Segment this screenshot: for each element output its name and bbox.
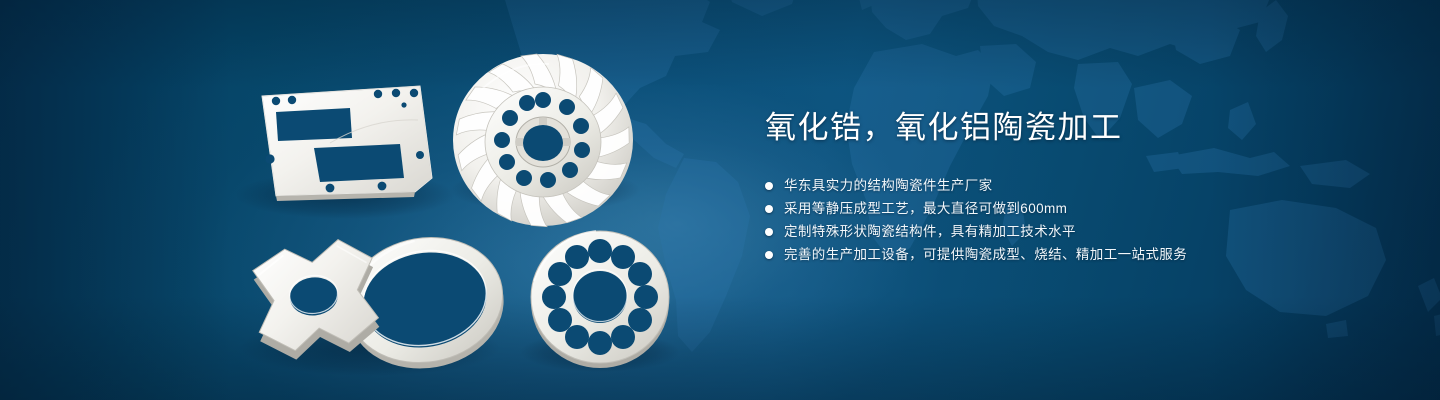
list-item: 完善的生产加工设备，可提供陶瓷成型、烧结、精加工一站式服务	[765, 243, 1385, 266]
bullet-dot-icon	[765, 182, 773, 190]
bullet-dot-icon	[765, 251, 773, 259]
list-item: 定制特殊形状陶瓷结构件，具有精加工技术水平	[765, 220, 1385, 243]
feature-text: 华东具实力的结构陶瓷件生产厂家	[784, 174, 993, 197]
feature-list: 华东具实力的结构陶瓷件生产厂家 采用等静压成型工艺，最大直径可做到600mm 定…	[765, 174, 1385, 266]
bullet-dot-icon	[765, 205, 773, 213]
list-item: 采用等静压成型工艺，最大直径可做到600mm	[765, 197, 1385, 220]
banner-headline: 氧化锆，氧化铝陶瓷加工	[765, 108, 1385, 148]
feature-text: 完善的生产加工设备，可提供陶瓷成型、烧结、精加工一站式服务	[784, 243, 1187, 266]
hero-banner: 氧化锆，氧化铝陶瓷加工 华东具实力的结构陶瓷件生产厂家 采用等静压成型工艺，最大…	[0, 0, 1440, 400]
banner-copy: 氧化锆，氧化铝陶瓷加工 华东具实力的结构陶瓷件生产厂家 采用等静压成型工艺，最大…	[765, 108, 1385, 266]
feature-text: 定制特殊形状陶瓷结构件，具有精加工技术水平	[784, 220, 1076, 243]
feature-text: 采用等静压成型工艺，最大直径可做到600mm	[784, 197, 1067, 220]
bullet-dot-icon	[765, 228, 773, 236]
list-item: 华东具实力的结构陶瓷件生产厂家	[765, 174, 1385, 197]
